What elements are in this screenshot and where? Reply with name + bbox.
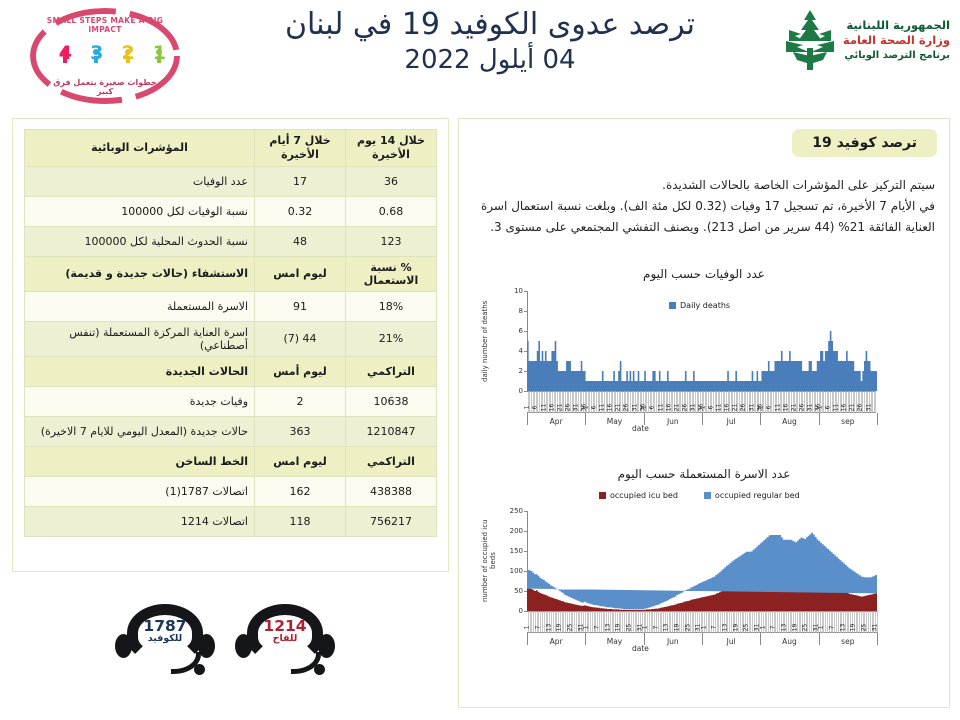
x-axis-month-separator [819,413,820,425]
chart-series-layer [469,483,939,688]
hotline-1214-number: 1214 [233,618,337,634]
table-row: 21% 44 (7) اسرة العناية المركزة المستعمل… [25,321,437,356]
x-axis-month-label: Jun [644,637,702,646]
x-axis-month-separator [527,633,528,645]
table-row: 123 48 نسبة الحدوث المحلية لكل 100000 [25,226,437,256]
campaign-step-3-icon: 3 [77,44,103,74]
header-indicators: المؤشرات الوبائية [25,130,255,167]
table-section-header-hotline: التراكمي ليوم امس الخط الساخن [25,446,437,476]
chart1-title: عدد الوفيات حسب اليوم [459,267,949,281]
icu-usage: 21% [346,321,437,356]
table-row: 36 17 عدد الوفيات [25,166,437,196]
table-row: 438388 162 اتصالات 1787(1) [25,476,437,506]
hotline-1787[interactable]: 1787 للكوفيد [113,600,217,678]
indicators-panel: خلال 14 يوم الأخيرة خلال 7 أيام الأخيرة … [12,118,449,572]
header-14days: خلال 14 يوم الأخيرة [346,130,437,167]
calls-1787-label: اتصالات 1787(1) [25,476,255,506]
legend-label: occupied icu bed [610,491,678,500]
x-axis-month-separator [585,633,586,645]
header-yesterday-h: ليوم امس [255,256,346,291]
x-axis-month-separator [527,413,528,425]
legend-swatch-icon [669,302,676,309]
chart1-plot: 0246810daily number of deaths16111621263… [469,283,939,443]
series-Daily-deaths [527,331,877,391]
x-axis-month-label: Jul [702,637,760,646]
deaths-7d: 17 [255,166,346,196]
chart-legend: Daily deaths [669,301,730,310]
ministry-line-3: برنامج الترصد الوبائي [843,49,950,63]
new-deaths-yesterday: 2 [255,386,346,416]
new-cases-yesterday: 363 [255,416,346,446]
x-axis-month-label: Aug [760,637,818,646]
calls-1214-cumulative: 756217 [346,506,437,536]
x-axis-month-label: Jul [702,417,760,426]
table-row: 1210847 363 حالات جديدة (المعدل اليومي ل… [25,416,437,446]
legend-label: occupied regular bed [715,491,800,500]
x-axis-title: date [632,424,649,433]
legend-item: occupied regular bed [704,491,800,500]
x-axis-band: 1611162126313616111621263136161116212631… [527,391,877,413]
death-rate-label: نسبة الوفيات لكل 100000 [25,196,255,226]
calls-1214-label: اتصالات 1214 [25,506,255,536]
incidence-label: نسبة الحدوث المحلية لكل 100000 [25,226,255,256]
x-axis-month-separator [702,413,703,425]
epidemiological-indicators-table: خلال 14 يوم الأخيرة خلال 7 أيام الأخيرة … [24,129,437,537]
table-row: 0.68 0.32 نسبة الوفيات لكل 100000 [25,196,437,226]
headset-mic-icon [314,664,325,675]
status-badge: ترصد كوفيد 19 [792,129,937,157]
table-header-row: خلال 14 يوم الأخيرة خلال 7 أيام الأخيرة … [25,130,437,167]
legend-label: Daily deaths [680,301,730,310]
surveillance-panel: ترصد كوفيد 19 سيتم التركيز على المؤشرات … [458,118,950,708]
headset-mic-icon [194,664,205,675]
ministry-line-2: وزارة الصحة العامة [843,33,950,49]
campaign-slogan-en: SMALL STEPS MAKE A BIG IMPACT [44,16,166,34]
page-header: SMALL STEPS MAKE A BIG IMPACT 1 2 3 4 خط… [0,0,960,112]
campaign-logo: SMALL STEPS MAKE A BIG IMPACT 1 2 3 4 خط… [30,8,180,104]
x-axis-month-label: Jun [644,417,702,426]
x-axis-month-separator [819,633,820,645]
occupied-beds-chart: عدد الاسرة المستعملة حسب اليوم 050100150… [459,467,949,697]
chart2-plot: 050100150200250number of occupied icu be… [469,483,939,688]
legend-swatch-icon [704,492,711,499]
x-axis-month-label: sep [819,637,877,646]
table-row: 10638 2 وفيات جديدة [25,386,437,416]
chart-legend: occupied icu bedoccupied regular bed [599,491,800,500]
campaign-step-4-icon: 4 [46,44,72,74]
ministry-logo: الجمهورية اللبنانية وزارة الصحة العامة ب… [783,8,950,72]
deaths-label: عدد الوفيات [25,166,255,196]
x-axis-month-separator [585,413,586,425]
beds-usage: 18% [346,291,437,321]
x-axis-month-label: Apr [527,417,585,426]
calls-1787-yesterday: 162 [255,476,346,506]
header-cumulative-hl: التراكمي [346,446,437,476]
x-axis-month-separator [877,413,878,425]
table-section-header-new-cases: التراكمي ليوم أمس الحالات الجديدة [25,356,437,386]
page-title-line1: ترصد عدوى الكوفيد 19 في لبنان [255,6,725,44]
ministry-line-1: الجمهورية اللبنانية [843,18,950,34]
header-yesterday-n: ليوم أمس [255,356,346,386]
icu-yesterday: 44 (7) [255,321,346,356]
hotline-badges: 1214 للقاح 1787 للكوفيد [110,600,340,680]
cedar-tree-logo-icon [783,8,837,72]
campaign-step-2-icon: 2 [109,44,135,74]
page-title: ترصد عدوى الكوفيد 19 في لبنان 04 أيلول 2… [255,6,725,76]
x-axis-month-label: Apr [527,637,585,646]
incidence-14d: 123 [346,226,437,256]
campaign-slogan-ar: خطوات صغيرة بتعمل فرق كبير [44,78,166,96]
header-7days: خلال 7 أيام الأخيرة [255,130,346,167]
header-usage-pct: % نسبة الاستعمال [346,256,437,291]
legend-item: Daily deaths [669,301,730,310]
hotline-1214[interactable]: 1214 للقاح [233,600,337,678]
hotline-1787-number: 1787 [113,618,217,634]
death-rate-7d: 0.32 [255,196,346,226]
summary-line-1: سيتم التركيز على المؤشرات الخاصة بالحالا… [481,175,935,196]
calls-1214-yesterday: 118 [255,506,346,536]
campaign-step-1-icon: 1 [140,44,166,74]
icu-label: اسرة العناية المركزة المستعملة (تنفس أصط… [25,321,255,356]
hotline-1214-subtitle: للقاح [233,634,337,645]
new-cases-label: حالات جديدة (المعدل اليومي للايام 7 الاخ… [25,416,255,446]
x-axis-cell [875,391,877,413]
x-axis-month-separator [702,633,703,645]
campaign-step-icons: 1 2 3 4 [46,40,166,74]
x-axis-month-separator [877,633,878,645]
header-yesterday-hl: ليوم امس [255,446,346,476]
new-cases-cumulative: 1210847 [346,416,437,446]
hotline-1787-subtitle: للكوفيد [113,634,217,645]
x-axis-cell [876,611,878,633]
table-section-header-hospitalization: % نسبة الاستعمال ليوم امس الاستشفاء (حال… [25,256,437,291]
x-axis-month-label: Aug [760,417,818,426]
deaths-14d: 36 [346,166,437,196]
legend-swatch-icon [599,492,606,499]
death-rate-14d: 0.68 [346,196,437,226]
x-axis-month-separator [760,633,761,645]
x-axis-band: 1713192531171319253117131925311713192531… [527,611,877,633]
chart2-title: عدد الاسرة المستعملة حسب اليوم [459,467,949,481]
table-row: 756217 118 اتصالات 1214 [25,506,437,536]
section-hotline-label: الخط الساخن [25,446,255,476]
section-new-cases-label: الحالات الجديدة [25,356,255,386]
page-title-line2: 04 أيلول 2022 [255,44,725,77]
beds-yesterday: 91 [255,291,346,321]
legend-item: occupied icu bed [599,491,678,500]
header-cumulative-n: التراكمي [346,356,437,386]
calls-1787-cumulative: 438388 [346,476,437,506]
x-axis-month-label: sep [819,417,877,426]
summary-text: سيتم التركيز على المؤشرات الخاصة بالحالا… [481,175,935,238]
new-deaths-label: وفيات جديدة [25,386,255,416]
table-row: 18% 91 الاسرة المستعملة [25,291,437,321]
summary-line-2: في الأيام 7 الأخيرة، تم تسجيل 17 وفيات (… [481,196,935,238]
daily-deaths-chart: عدد الوفيات حسب اليوم 0246810daily numbe… [459,267,949,447]
incidence-7d: 48 [255,226,346,256]
new-deaths-cumulative: 10638 [346,386,437,416]
beds-label: الاسرة المستعملة [25,291,255,321]
x-axis-month-separator [760,413,761,425]
section-hospitalization-label: الاستشفاء (حالات جديدة و قديمة) [25,256,255,291]
x-axis-title: date [632,644,649,653]
